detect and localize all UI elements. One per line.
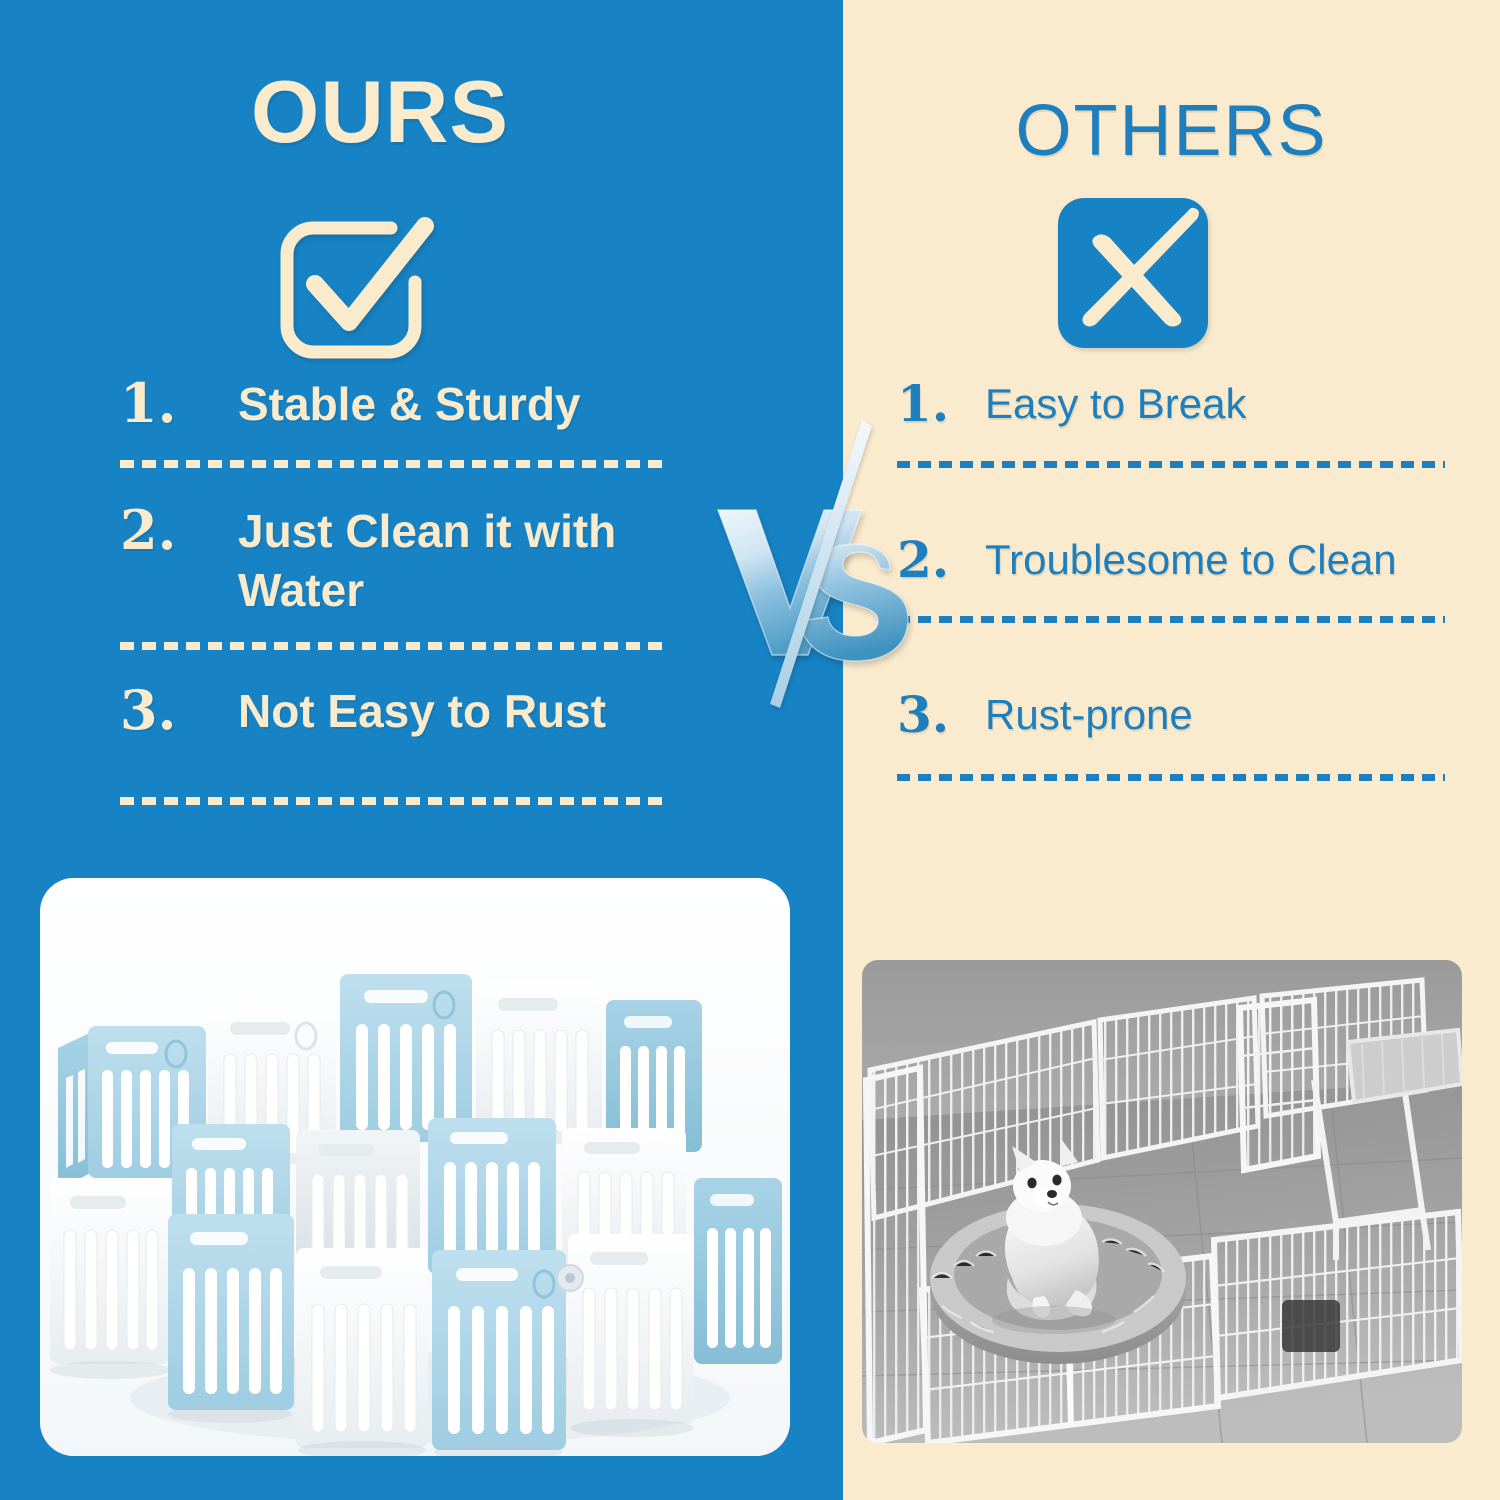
- list-item: 3. Not Easy to Rust: [120, 682, 668, 741]
- comparison-infographic: OURS OTHERS 1. Stable & Sturdy 2. Just C…: [0, 0, 1500, 1500]
- ours-product-photo: [40, 878, 790, 1456]
- list-item-number: 3.: [897, 689, 985, 742]
- list-item: 1. Easy to Break: [897, 378, 1445, 431]
- list-item: 1. Stable & Sturdy: [120, 375, 668, 434]
- ours-heading: OURS: [0, 68, 760, 156]
- divider-dashed: [897, 774, 1445, 781]
- divider-dashed: [120, 642, 668, 650]
- divider-dashed: [897, 616, 1445, 623]
- list-item-number: 1.: [120, 375, 238, 432]
- others-heading: OTHERS: [843, 95, 1500, 167]
- divider-dashed: [120, 460, 668, 468]
- checkbox-check-icon: [265, 200, 445, 380]
- list-item: 2. Troublesome to Clean: [897, 534, 1445, 587]
- list-item-number: 1.: [897, 378, 985, 431]
- list-item-label: Troublesome to Clean: [985, 534, 1445, 587]
- others-product-photo: [862, 960, 1462, 1443]
- list-item-label: Just Clean it with Water: [238, 502, 668, 620]
- list-item-label: Stable & Sturdy: [238, 375, 668, 434]
- list-item-label: Not Easy to Rust: [238, 682, 668, 741]
- list-item-number: 3.: [120, 682, 238, 739]
- list-item-label: Rust-prone: [985, 689, 1445, 742]
- x-mark-icon: [1052, 192, 1232, 372]
- list-item-number: 2.: [120, 502, 238, 559]
- list-item: 3. Rust-prone: [897, 689, 1445, 742]
- list-item-label: Easy to Break: [985, 378, 1445, 431]
- list-item: 2. Just Clean it with Water: [120, 502, 668, 620]
- ours-feature-list: 1. Stable & Sturdy 2. Just Clean it with…: [120, 375, 668, 805]
- list-item-number: 2.: [897, 534, 985, 587]
- divider-dashed: [120, 797, 668, 805]
- others-feature-list: 1. Easy to Break 2. Troublesome to Clean…: [897, 378, 1445, 781]
- divider-dashed: [897, 461, 1445, 468]
